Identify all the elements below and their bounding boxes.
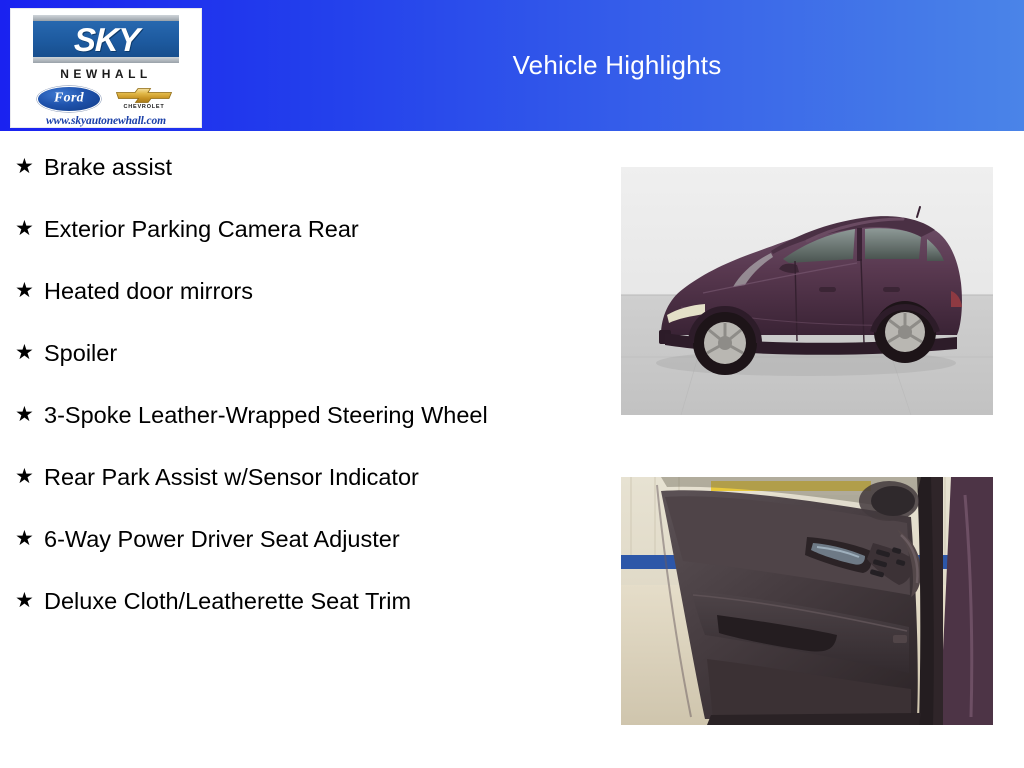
star-bullet-icon: ★ xyxy=(12,398,44,432)
feature-label: 6-Way Power Driver Seat Adjuster xyxy=(44,522,572,556)
feature-label: Brake assist xyxy=(44,150,572,184)
star-bullet-icon: ★ xyxy=(12,522,44,556)
list-item: ★ Brake assist xyxy=(12,150,572,184)
list-item: ★ Deluxe Cloth/Leatherette Seat Trim xyxy=(12,584,572,618)
star-bullet-icon: ★ xyxy=(12,460,44,494)
feature-label: Rear Park Assist w/Sensor Indicator xyxy=(44,460,572,494)
slide-root: Vehicle Highlights SKY NEWHALL Ford xyxy=(0,0,1024,768)
star-bullet-icon: ★ xyxy=(12,212,44,246)
dealer-logo: SKY NEWHALL Ford xyxy=(10,8,202,128)
feature-label: 3-Spoke Leather-Wrapped Steering Wheel xyxy=(44,398,572,432)
feature-label: Spoiler xyxy=(44,336,572,370)
dealer-website-url: www.skyautonewhall.com xyxy=(46,116,166,128)
list-item: ★ Heated door mirrors xyxy=(12,274,572,308)
star-bullet-icon: ★ xyxy=(12,584,44,618)
dealer-location-label: NEWHALL xyxy=(60,68,152,80)
feature-label: Heated door mirrors xyxy=(44,274,572,308)
sky-logo-block: SKY xyxy=(33,15,179,63)
page-title: Vehicle Highlights xyxy=(210,0,1024,131)
feature-label: Exterior Parking Camera Rear xyxy=(44,212,572,246)
list-item: ★ Rear Park Assist w/Sensor Indicator xyxy=(12,460,572,494)
list-item: ★ Exterior Parking Camera Rear xyxy=(12,212,572,246)
ford-logo-label: Ford xyxy=(54,91,84,105)
sky-brand-word: SKY xyxy=(73,23,139,56)
list-item: ★ Spoiler xyxy=(12,336,572,370)
oem-brand-row: Ford CHEVROLET xyxy=(37,85,175,112)
chevrolet-logo-icon: CHEVROLET xyxy=(113,85,175,112)
vehicle-interior-photo xyxy=(621,477,993,725)
list-item: ★ 3-Spoke Leather-Wrapped Steering Wheel xyxy=(12,398,572,432)
chevrolet-bowtie-icon xyxy=(115,87,173,104)
star-bullet-icon: ★ xyxy=(12,150,44,184)
star-bullet-icon: ★ xyxy=(12,336,44,370)
vehicle-exterior-photo xyxy=(621,167,993,415)
ford-logo-icon: Ford xyxy=(37,86,101,112)
star-bullet-icon: ★ xyxy=(12,274,44,308)
interior-photo-graphic xyxy=(621,477,993,725)
feature-label: Deluxe Cloth/Leatherette Seat Trim xyxy=(44,584,572,618)
vehicle-features-list: ★ Brake assist ★ Exterior Parking Camera… xyxy=(12,150,572,618)
list-item: ★ 6-Way Power Driver Seat Adjuster xyxy=(12,522,572,556)
exterior-photo-graphic xyxy=(621,167,993,415)
chevrolet-logo-label: CHEVROLET xyxy=(123,105,164,111)
